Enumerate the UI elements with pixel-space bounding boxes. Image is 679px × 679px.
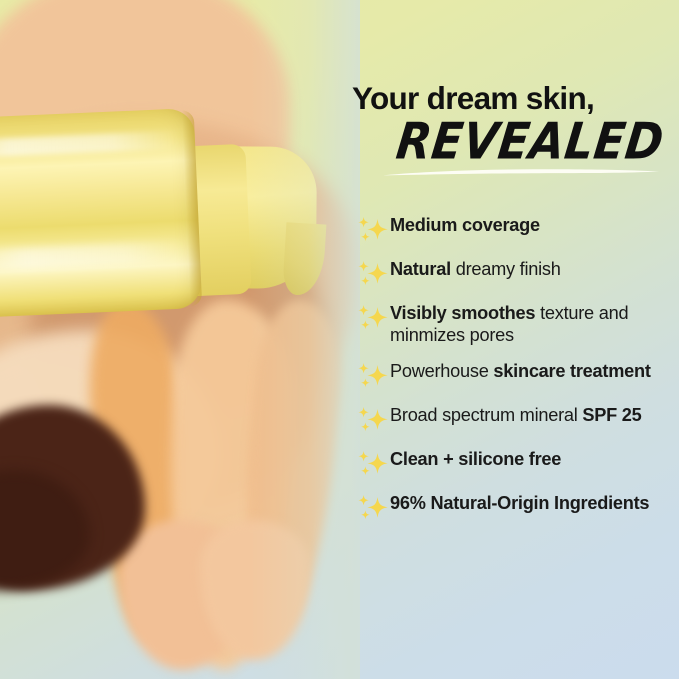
benefit-text: Powerhouse skincare treatment (390, 360, 676, 383)
benefit-text-part: 96% Natural-Origin Ingredients (390, 493, 649, 513)
benefit-item: Visibly smoothes texture and minmizes po… (356, 302, 676, 347)
sparkle-icon (356, 493, 390, 523)
benefit-text: Clean + silicone free (390, 448, 676, 471)
artwork-edge-fade (250, 0, 360, 679)
brush-underline-icon (382, 168, 660, 177)
benefit-item: Natural dreamy finish (356, 258, 676, 289)
benefit-text: Broad spectrum mineral SPF 25 (390, 404, 676, 427)
benefit-text: Visibly smoothes texture and minmizes po… (390, 302, 676, 347)
tube-highlight-top (0, 131, 181, 160)
benefit-text-part: dreamy finish (456, 259, 561, 279)
sparkle-icon (356, 303, 390, 333)
benefit-text: Natural dreamy finish (390, 258, 676, 281)
sparkle-icon (356, 449, 390, 479)
swatch-deep-brown (0, 405, 145, 590)
sparkle-icon (356, 259, 390, 289)
sparkle-icon (356, 405, 390, 435)
swatch-bloom (0, 350, 130, 480)
headline-line-2: REVEALED (394, 116, 667, 166)
sparkle-icon (356, 215, 390, 245)
headline-line-1: Your dream skin, (352, 82, 677, 115)
tube-nozzle-tip (282, 222, 326, 296)
headline-line-2-wrap: REVEALED (352, 116, 677, 174)
benefit-text-part: Powerhouse (390, 361, 493, 381)
sparkle-icon (356, 361, 390, 391)
tube-cap (0, 108, 202, 319)
benefit-text: Medium coverage (390, 214, 676, 237)
headline-block: Your dream skin, REVEALED (352, 82, 677, 174)
benefit-text-part: SPF 25 (582, 405, 641, 425)
benefit-item: Clean + silicone free (356, 448, 676, 479)
benefit-text-part: Medium coverage (390, 215, 540, 235)
benefit-text-part: Broad spectrum mineral (390, 405, 582, 425)
tube-highlight-bottom (0, 240, 188, 273)
sparkle-icon (356, 303, 390, 333)
benefit-text-part: Clean + silicone free (390, 449, 561, 469)
swatch-gold-streak (83, 297, 196, 642)
swatch-drip-right (200, 520, 310, 660)
benefit-item: Medium coverage (356, 214, 676, 245)
benefits-list: Medium coverageNatural dreamy finishVisi… (356, 214, 676, 523)
sparkle-icon (356, 215, 390, 245)
swatch-deep-brown-2 (0, 470, 90, 590)
benefit-item: 96% Natural-Origin Ingredients (356, 492, 676, 523)
sparkle-icon (356, 449, 390, 479)
swatch-drip-left (120, 520, 250, 670)
copy-column: Your dream skin, REVEALED Medium coverag… (350, 0, 679, 679)
benefit-text-part: Visibly smoothes (390, 303, 540, 323)
swatch-light-streak (164, 298, 297, 672)
swatch-edge-streak (234, 297, 348, 633)
product-artwork (0, 0, 360, 679)
benefit-text-part: Natural (390, 259, 456, 279)
sparkle-icon (356, 361, 390, 391)
foundation-tube (0, 104, 284, 319)
sparkle-icon (356, 493, 390, 523)
sparkle-icon (356, 405, 390, 435)
benefit-text: 96% Natural-Origin Ingredients (390, 492, 676, 515)
benefit-item: Powerhouse skincare treatment (356, 360, 676, 391)
swatch-cream (0, 330, 220, 560)
product-marketing-image: Your dream skin, REVEALED Medium coverag… (0, 0, 679, 679)
benefit-text-part: skincare treatment (493, 361, 650, 381)
sparkle-icon (356, 259, 390, 289)
benefit-item: Broad spectrum mineral SPF 25 (356, 404, 676, 435)
